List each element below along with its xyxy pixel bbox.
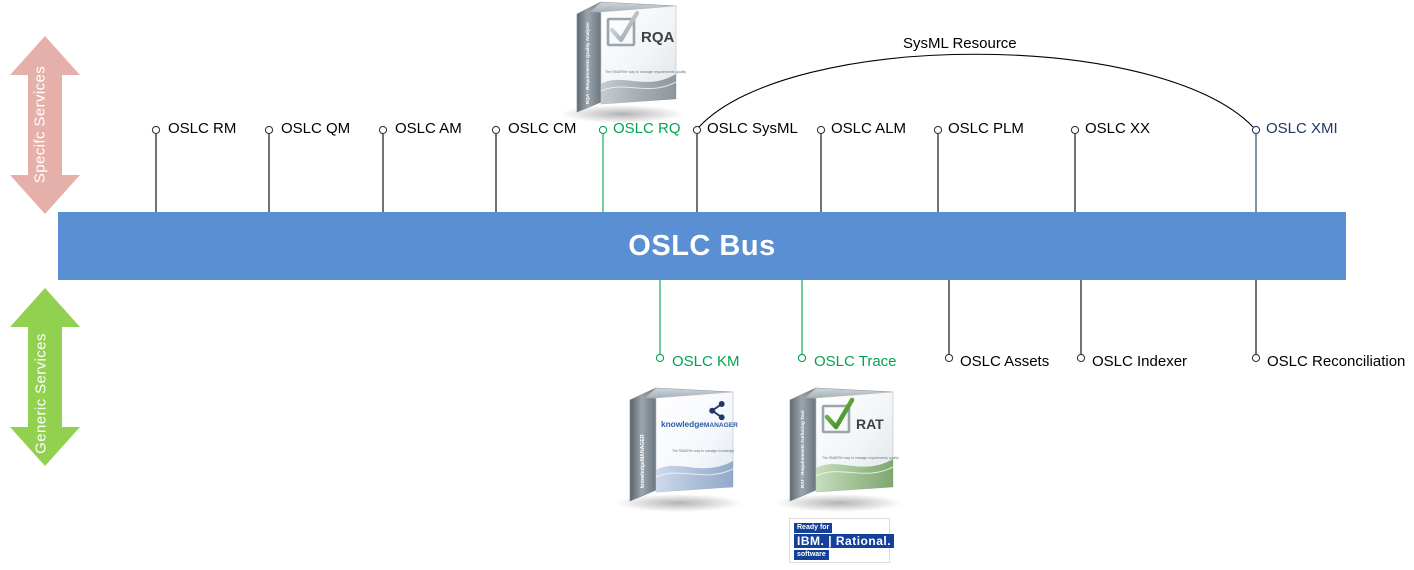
specific-services-label: Specifc Services — [32, 45, 49, 205]
badge-ibm-rational-text: IBM. | Rational. — [794, 534, 894, 548]
node-label-oslc-cm[interactable]: OSLC CM — [508, 121, 576, 136]
diagram-canvas: RQA The SMARTer way to manage requiremen… — [0, 0, 1414, 570]
node-label-oslc-assets[interactable]: OSLC Assets — [960, 354, 1049, 369]
svg-text:RQA - Requirements Quality Ana: RQA - Requirements Quality Analyzer — [585, 22, 590, 104]
oslc-bus[interactable]: OSLC Bus — [58, 212, 1346, 280]
node-label-oslc-rm[interactable]: OSLC RM — [168, 121, 236, 136]
svg-text:RAT: RAT — [856, 416, 884, 432]
svg-text:The SMARTer way to manage requ: The SMARTer way to manage requirements q… — [605, 70, 686, 74]
node-label-oslc-trace[interactable]: OSLC Trace — [814, 354, 897, 369]
badge-ibm-text: IBM. — [797, 534, 824, 548]
generic-services-label: Generic Services — [33, 314, 50, 474]
product-box-km-art: knowledgeMANAGER The SMARTer way to mana… — [615, 388, 743, 512]
node-label-oslc-rq[interactable]: OSLC RQ — [613, 121, 681, 136]
bottom-connectors — [656, 280, 1259, 362]
node-label-oslc-indexer[interactable]: OSLC Indexer — [1092, 354, 1187, 369]
node-label-oslc-am[interactable]: OSLC AM — [395, 121, 462, 136]
node-label-oslc-reconciliation[interactable]: OSLC Reconciliation — [1267, 354, 1405, 369]
top-connectors — [152, 126, 1259, 213]
node-label-oslc-qm[interactable]: OSLC QM — [281, 121, 350, 136]
node-label-oslc-xmi[interactable]: OSLC XMI — [1266, 121, 1338, 136]
svg-text:The SMARTer way to manage requ: The SMARTer way to manage requirements q… — [822, 456, 899, 460]
svg-text:RAT - Requirements Authoring T: RAT - Requirements Authoring Tool — [800, 411, 805, 489]
product-box-rat-art: RAT The SMARTer way to manage requiremen… — [775, 388, 903, 512]
badge-ready-for-text: Ready for — [794, 523, 832, 533]
product-box-rqa-art: RQA The SMARTer way to manage requiremen… — [560, 2, 686, 123]
svg-text:knowledgeMANAGER: knowledgeMANAGER — [640, 434, 646, 488]
node-label-oslc-km[interactable]: OSLC KM — [672, 354, 740, 369]
node-label-oslc-xx[interactable]: OSLC XX — [1085, 121, 1150, 136]
oslc-bus-title: OSLC Bus — [628, 230, 775, 263]
svg-text:RQA: RQA — [641, 29, 675, 46]
diagram-vector-layer: RQA The SMARTer way to manage requiremen… — [0, 0, 1414, 570]
badge-divider: | — [828, 534, 836, 548]
sysml-resource-arc — [699, 54, 1253, 127]
ibm-rational-ready-badge: Ready for IBM. | Rational. software — [789, 518, 890, 563]
badge-rational-text: Rational. — [836, 534, 891, 548]
svg-text:knowledgeMANAGER: knowledgeMANAGER — [661, 419, 738, 429]
badge-software-text: software — [794, 550, 829, 560]
sysml-resource-arc-label: SysML Resource — [903, 35, 1017, 52]
node-label-oslc-alm[interactable]: OSLC ALM — [831, 121, 906, 136]
node-label-oslc-sysml[interactable]: OSLC SysML — [707, 121, 798, 136]
svg-text:The SMARTer way to manage know: The SMARTer way to manage knowledge — [672, 449, 734, 453]
node-label-oslc-plm[interactable]: OSLC PLM — [948, 121, 1024, 136]
